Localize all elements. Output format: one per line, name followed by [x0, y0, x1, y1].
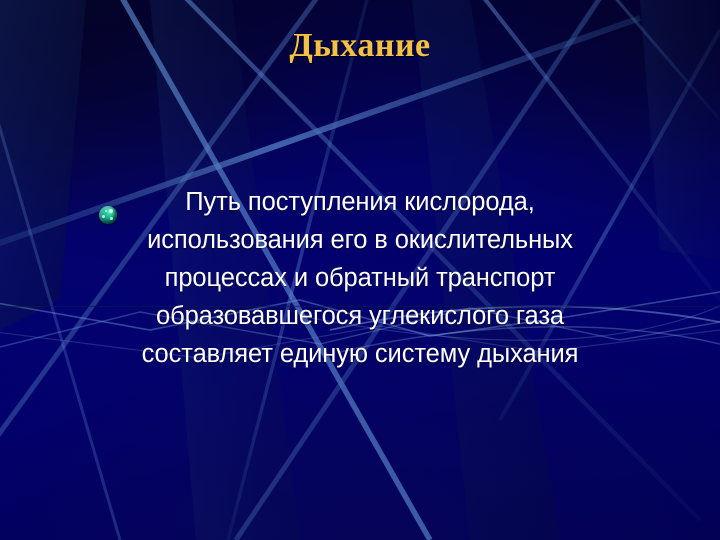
body-line: образовавшегося углекислого газа [0, 297, 720, 335]
body-line: процессах и обратный транспорт [0, 259, 720, 297]
body-line: составляет единую систему дыхания [0, 335, 720, 373]
slide-body: Путь поступления кислорода, использовани… [0, 183, 720, 373]
presentation-slide: Дыхание Путь поступления кислорода, испо… [0, 0, 720, 540]
body-line: Путь поступления кислорода, [0, 183, 720, 221]
slide-title: Дыхание [0, 26, 720, 66]
body-line: использования его в окислительных [0, 221, 720, 259]
